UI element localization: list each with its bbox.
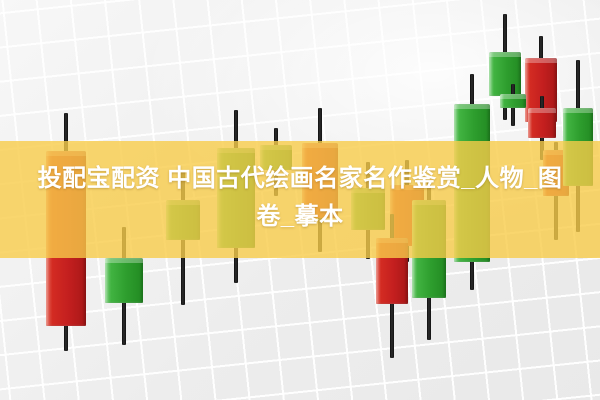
- page-title-line-1: 投配宝配资 中国古代绘画名家名作鉴赏_人物_图: [0, 160, 600, 198]
- candlestick-body-highlight: [489, 52, 521, 57]
- candlestick-body-highlight: [525, 58, 557, 63]
- candlestick-body: [528, 108, 556, 138]
- candlestick-body: [500, 94, 526, 108]
- page-title: 投配宝配资 中国古代绘画名家名作鉴赏_人物_图 卷_摹本: [0, 160, 600, 236]
- candlestick-body-highlight: [454, 104, 490, 109]
- candlestick-banner: 投配宝配资 中国古代绘画名家名作鉴赏_人物_图 卷_摹本: [0, 0, 600, 400]
- candlestick: [500, 84, 526, 126]
- candlestick-body-highlight: [528, 108, 556, 113]
- candlestick-body: [105, 258, 143, 303]
- candlestick-body-highlight: [105, 258, 143, 263]
- page-title-line-2: 卷_摹本: [0, 198, 600, 236]
- candlestick-body-highlight: [563, 108, 593, 113]
- candlestick-body-highlight: [500, 94, 526, 99]
